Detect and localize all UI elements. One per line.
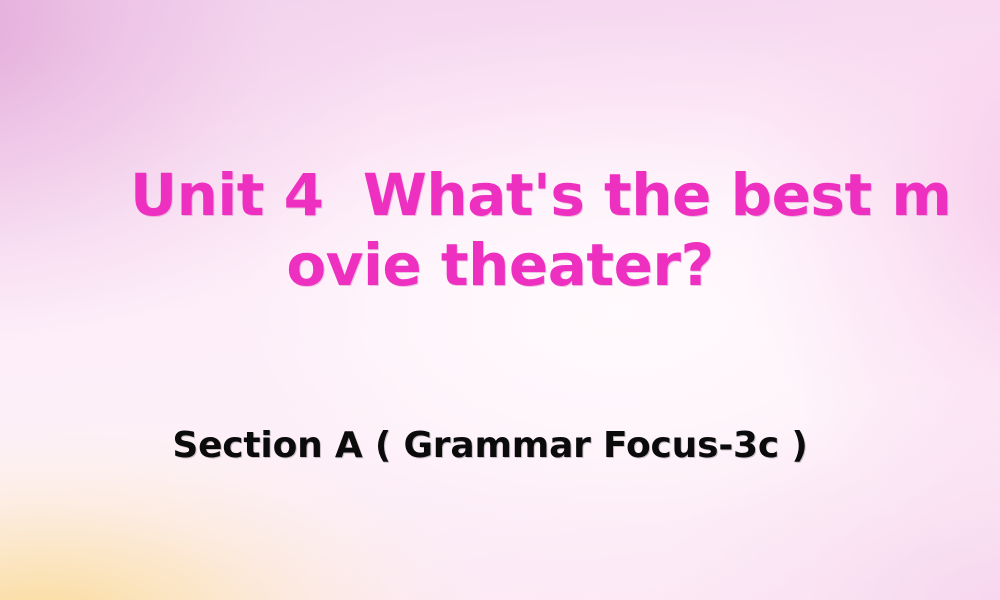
slide-subtitle-text: Section A ( Grammar Focus-3c ): [0, 420, 980, 472]
background-top-left-pink-glow: [0, 0, 1000, 600]
background-bottom-left-warm-glow: [0, 0, 1000, 600]
title-slide: Unit 4 What's the best m ovie theater? S…: [0, 0, 1000, 600]
background-bottom-right-glow: [0, 0, 1000, 600]
slide-subtitle: Section A ( Grammar Focus-3c ): [0, 420, 980, 472]
background-right-pink-glow: [0, 0, 1000, 600]
slide-title: Unit 4 What's the best m ovie theater?: [130, 160, 870, 300]
background-base-gradient: [0, 0, 1000, 600]
background-center-highlight: [0, 0, 1000, 600]
slide-title-line-2: ovie theater?: [130, 230, 870, 300]
slide-title-line-1: Unit 4 What's the best m: [130, 160, 870, 230]
